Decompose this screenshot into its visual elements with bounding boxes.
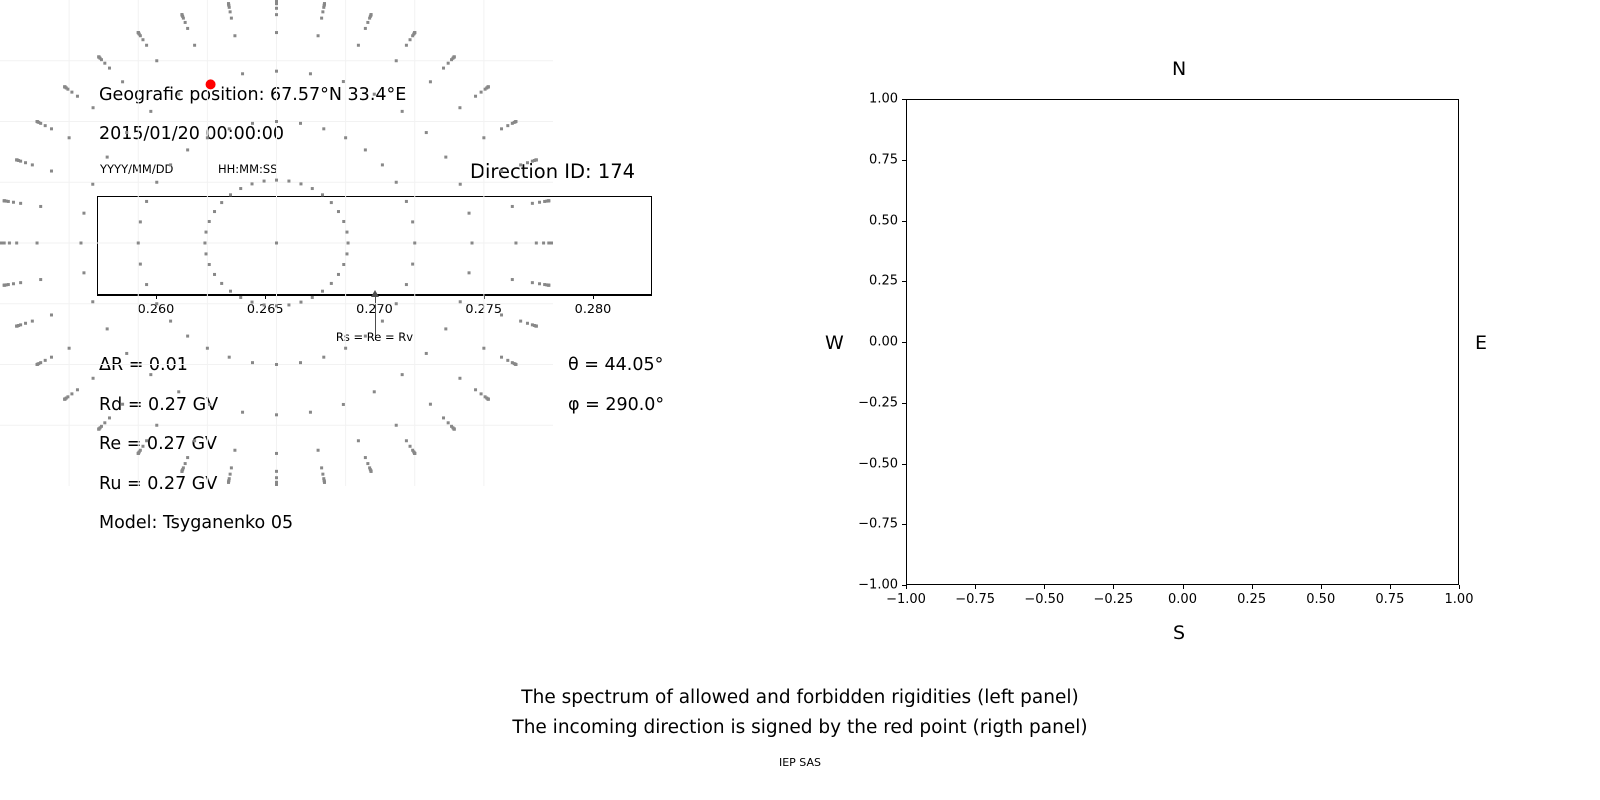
y-axis-tick <box>902 160 906 161</box>
y-axis-tick-label: −1.00 <box>838 578 898 593</box>
x-axis-tick-label: −0.50 <box>1024 592 1064 607</box>
x-axis-tick <box>1459 585 1460 589</box>
x-axis-tick <box>906 585 907 589</box>
direction-scatter-plot <box>0 0 553 486</box>
x-axis-tick-label: 0.00 <box>1168 592 1197 607</box>
x-axis-tick-label: 0.75 <box>1375 592 1404 607</box>
x-axis-tick-label: 0.25 <box>1237 592 1266 607</box>
x-axis-tick-group: −1.00−0.75−0.50−0.250.000.250.500.751.00 <box>906 585 1459 625</box>
x-axis-tick-label: −1.00 <box>886 592 926 607</box>
x-axis-tick <box>1044 585 1045 589</box>
y-axis-tick <box>902 403 906 404</box>
x-axis-tick-label: −0.75 <box>955 592 995 607</box>
x-axis-tick <box>1390 585 1391 589</box>
x-axis-tick <box>1321 585 1322 589</box>
angle-item-0: θ = 44.05° <box>568 355 663 375</box>
y-axis-tick-label: 0.00 <box>838 335 898 350</box>
x-axis-tick <box>1252 585 1253 589</box>
y-axis-tick-label: 1.00 <box>838 92 898 107</box>
y-axis-tick-label: −0.75 <box>838 517 898 532</box>
sky-direction-panel: N S W E −1.00−0.75−0.50−0.250.000.250.50… <box>0 0 553 490</box>
x-axis-tick <box>975 585 976 589</box>
y-axis-tick <box>902 524 906 525</box>
y-axis-tick-label: 0.25 <box>838 274 898 289</box>
compass-label-east: E <box>1475 332 1487 354</box>
y-axis-tick-group: −1.00−0.75−0.50−0.250.000.250.500.751.00 <box>906 99 907 585</box>
x-axis-tick-label: −0.25 <box>1093 592 1133 607</box>
y-axis-tick <box>902 221 906 222</box>
y-axis-tick <box>902 281 906 282</box>
y-axis-tick-label: 0.75 <box>838 152 898 167</box>
y-axis-tick <box>902 99 906 100</box>
x-axis-tick-label: 0.50 <box>1306 592 1335 607</box>
compass-label-south: S <box>1173 622 1185 644</box>
footer-caption-line-2: The incoming direction is signed by the … <box>0 717 1600 738</box>
y-axis-tick-label: −0.50 <box>838 456 898 471</box>
plot-frame <box>906 99 1459 585</box>
parameter-item-4: Model: Tsyganenko 05 <box>99 513 293 533</box>
x-axis-tick <box>1183 585 1184 589</box>
y-axis-tick <box>902 342 906 343</box>
credit-label: IEP SAS <box>0 756 1600 769</box>
angle-item-1: φ = 290.0° <box>568 395 664 415</box>
y-axis-tick-label: 0.50 <box>838 213 898 228</box>
footer-caption-line-1: The spectrum of allowed and forbidden ri… <box>0 687 1600 708</box>
y-axis-tick-label: −0.25 <box>838 395 898 410</box>
x-axis-tick <box>1113 585 1114 589</box>
compass-label-north: N <box>1172 58 1186 80</box>
incoming-direction-point <box>206 79 216 89</box>
x-axis-tick-label: 1.00 <box>1445 592 1474 607</box>
y-axis-tick <box>902 464 906 465</box>
